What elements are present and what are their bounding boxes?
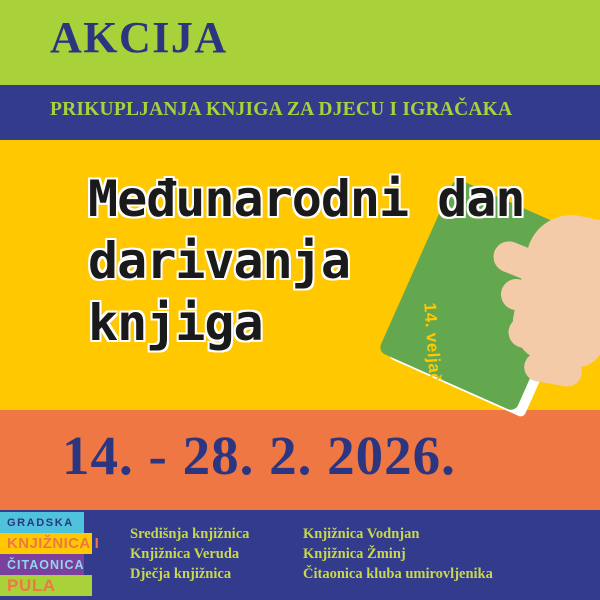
branch-list-right: Knjižnica Vodnjan Knjižnica Žminj Čitaon… [303, 524, 493, 584]
branch-item: Dječja knjižnica [130, 564, 249, 584]
library-logo: GRADSKA KNJIŽNICA I ČITAONICA PULA [0, 512, 95, 596]
main-title-line-3: knjiga [88, 292, 558, 354]
headline-akcija: AKCIJA [50, 14, 228, 62]
branch-item: Knjižnica Veruda [130, 544, 249, 564]
branch-item: Knjižnica Žminj [303, 544, 493, 564]
subtitle-text: PRIKUPLJANJA KNJIGA ZA DJECU I IGRAČAKA [50, 99, 512, 121]
date-range: 14. - 28. 2. 2026. [62, 424, 456, 487]
main-title-line-1: Međunarodni dan [88, 168, 558, 230]
logo-line-gradska: GRADSKA [0, 512, 84, 533]
main-title: Međunarodni dan darivanja knjiga [88, 168, 558, 354]
branch-list-left: Središnja knjižnica Knjižnica Veruda Dje… [130, 524, 249, 584]
branch-item: Središnja knjižnica [130, 524, 249, 544]
branch-item: Čitaonica kluba umirovljenika [303, 564, 493, 584]
logo-line-pula: PULA [0, 575, 92, 596]
logo-line-knjiznica: KNJIŽNICA I [0, 533, 92, 554]
branch-item: Knjižnica Vodnjan [303, 524, 493, 544]
main-title-line-2: darivanja [88, 230, 558, 292]
poster: AKCIJA PRIKUPLJANJA KNJIGA ZA DJECU I IG… [0, 0, 600, 600]
logo-line-citaonica: ČITAONICA [0, 554, 84, 575]
